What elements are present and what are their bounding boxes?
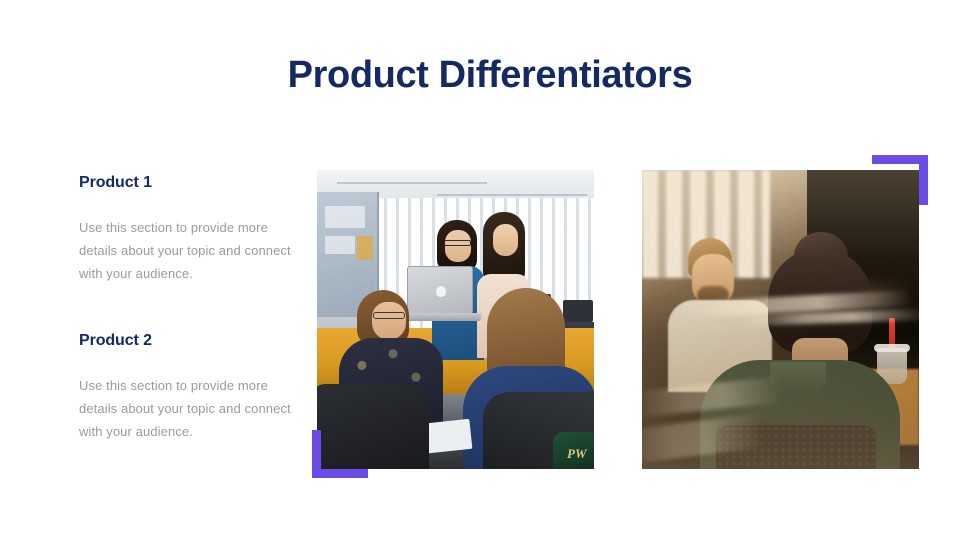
product-1-heading: Product 1: [79, 172, 294, 194]
laptop-logo-icon: [436, 286, 446, 297]
laptop-base: [400, 313, 481, 321]
standing-person-2-face: [493, 224, 518, 256]
product-block-1: Product 1 Use this section to provide mo…: [79, 172, 294, 285]
seated-person-1-face: [372, 302, 406, 340]
product-2-heading: Product 2: [79, 330, 294, 352]
text-column: Product 1 Use this section to provide mo…: [79, 172, 294, 443]
product-2-body: Use this section to provide more details…: [79, 374, 294, 443]
partition-note: [325, 206, 365, 228]
corner-bracket-bottom-left: [312, 430, 368, 478]
laptop-screen: [407, 266, 473, 314]
seated-person-1-glasses: [373, 312, 405, 319]
standing-person-1-glasses: [444, 240, 471, 246]
office-meeting-photo: PW: [317, 170, 594, 469]
partition-sticker: [357, 236, 373, 260]
product-1-body: Use this section to provide more details…: [79, 216, 294, 285]
office-meeting-photo-content: PW: [317, 170, 594, 469]
product-block-2: Product 2 Use this section to provide mo…: [79, 330, 294, 443]
ceiling-line: [437, 194, 587, 196]
partition-note: [325, 236, 355, 254]
glass-haze-overlay: [642, 170, 919, 469]
standing-person-1-face: [445, 230, 471, 262]
corner-bracket-top-right: [872, 155, 928, 205]
ceiling-line: [337, 182, 487, 184]
monitor: [563, 300, 593, 322]
cafe-conversation-photo: [642, 170, 919, 469]
cafe-conversation-photo-content: [642, 170, 919, 469]
page-title: Product Differentiators: [0, 52, 980, 98]
slide-canvas: Product Differentiators Product 1 Use th…: [0, 0, 980, 551]
green-banner-mark: PW: [567, 446, 594, 460]
